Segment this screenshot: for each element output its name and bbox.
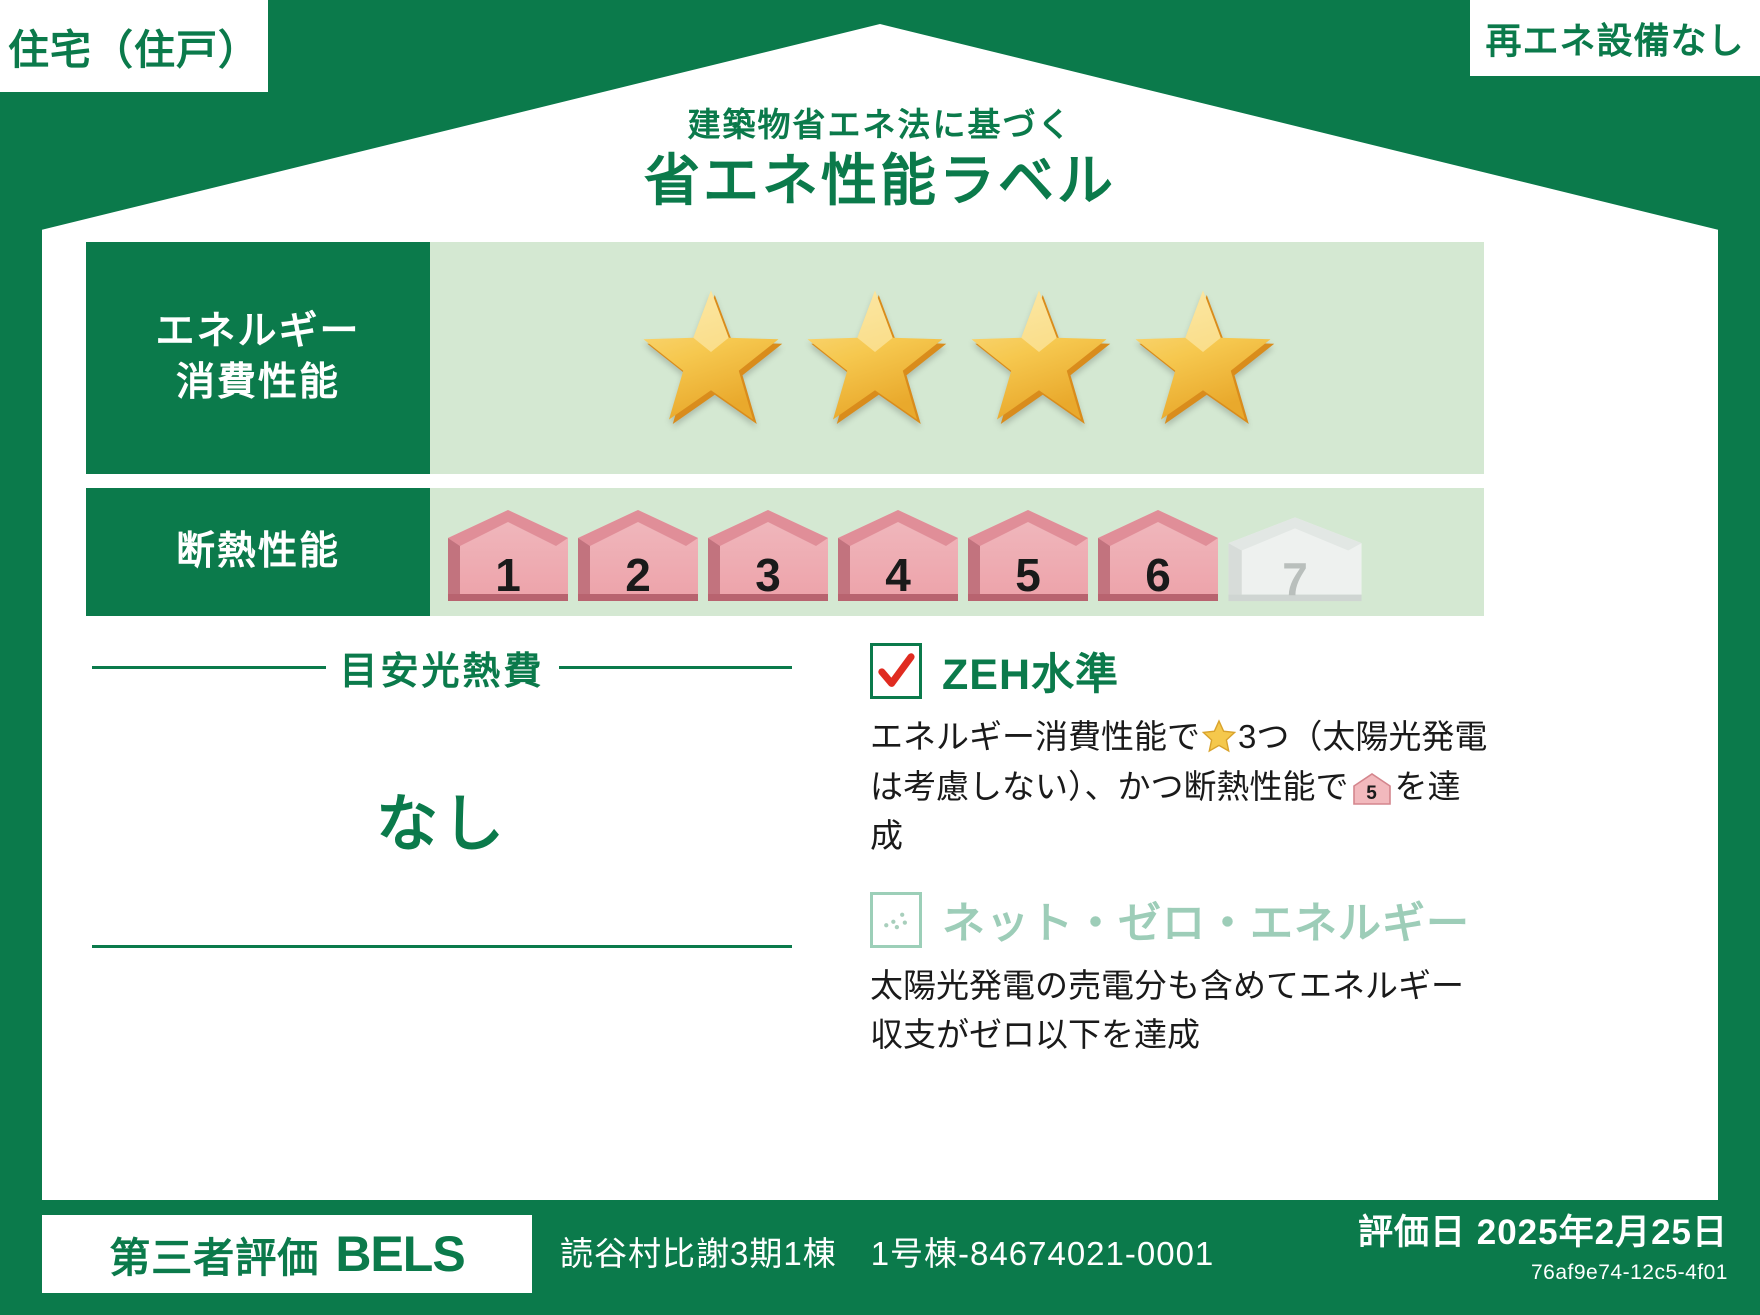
energy-label-line-1: エネルギー [155,307,360,358]
property-name: 読谷村比謝3期1棟 1号棟-84674021-0001 [560,1227,1214,1275]
utility-cost-bottom-rule [92,945,792,948]
net-zero-energy-row[interactable]: ネット・ゼロ・エネルギー [870,889,1490,951]
insulation-grade-chip: 5 [964,502,1092,602]
energy-performance-row: エネルギー 消費性能 [86,242,1484,474]
utility-cost-heading-text: 目安光熱費 [340,640,545,695]
badge-building-type: 住宅（住戸） [0,0,268,92]
net-zero-desc-line-1: 太陽光発電の売電分も含めてエネルギー [870,967,1464,1004]
zeh-standard-label: ZEH水準 [942,640,1119,702]
energy-performance-label: エネルギー 消費性能 [86,242,430,474]
badge-renewable-equipment: 再エネ設備なし [1470,0,1760,76]
net-zero-energy-checkbox[interactable] [870,892,922,948]
net-zero-energy-label: ネット・ゼロ・エネルギー [942,889,1470,951]
inline-insulation-chip-icon: 5 [1352,772,1392,806]
insulation-performance-row: 断熱性能 1234567 [86,488,1484,616]
bels-badge-en-text: BELS [335,1225,464,1283]
evaluation-date: 評価日 2025年2月25日 [1358,1204,1728,1255]
title-subtitle: 建築物省エネ法に基づく [0,104,1760,145]
star-rating [430,242,1484,474]
insulation-grade-chip: 6 [1094,502,1222,602]
insulation-grade-chip: 7 [1224,510,1366,602]
zeh-desc-part-1: エネルギー消費性能で [870,718,1200,755]
zeh-block: ZEH水準 エネルギー消費性能で 3つ（太陽光発電 は考慮しない）、かつ断熱性能… [870,640,1490,1060]
bels-badge: 第三者評価 BELS [42,1215,532,1293]
zeh-standard-description: エネルギー消費性能で 3つ（太陽光発電 は考慮しない）、かつ断熱性能で 5 を達… [870,712,1490,861]
bels-energy-label: 住宅（住戸） 再エネ設備なし 建築物省エネ法に基づく 省エネ性能ラベル エネルギ… [0,0,1760,1315]
inline-chip-value: 5 [1352,780,1392,809]
zeh-desc-star-count: 3つ（太陽光発電 [1238,718,1487,755]
zeh-standard-checkbox[interactable] [870,643,922,699]
inline-star-icon [1202,717,1236,751]
zeh-standard-row[interactable]: ZEH水準 [870,640,1490,702]
footer: 第三者評価 BELS 読谷村比謝3期1棟 1号棟-84674021-0001 評… [0,1199,1760,1315]
insulation-grade-chip: 4 [834,502,962,602]
insulation-label-text: 断熱性能 [176,527,340,578]
rule-right [559,666,793,669]
insulation-grade-scale: 1234567 [444,502,1366,602]
zeh-section-spacer [870,861,1490,889]
net-zero-energy-description: 太陽光発電の売電分も含めてエネルギー 収支がゼロ以下を達成 [870,961,1490,1060]
insulation-grade-chip: 3 [704,502,832,602]
utility-cost-block: 目安光熱費 なし [92,640,792,863]
page-title: 省エネ性能ラベル [0,149,1760,213]
star-icon [800,283,950,433]
insulation-grade-chip: 2 [574,502,702,602]
insulation-grade-chip: 1 [444,502,572,602]
evaluation-id: 76af9e74-12c5-4f01 [1358,1261,1728,1285]
evaluation-info: 評価日 2025年2月25日 76af9e74-12c5-4f01 [1358,1204,1728,1285]
star-icon [1128,283,1278,433]
zeh-desc-part-2: は考慮しない）、かつ断熱性能で [870,768,1349,805]
star-icon [636,283,786,433]
utility-cost-value: なし [92,773,792,863]
utility-cost-heading: 目安光熱費 [92,640,792,695]
rule-left [92,666,326,669]
star-icon [964,283,1114,433]
title-block: 建築物省エネ法に基づく 省エネ性能ラベル [0,104,1760,214]
insulation-performance-label: 断熱性能 [86,488,430,616]
energy-label-line-2: 消費性能 [176,358,340,409]
net-zero-desc-line-2: 収支がゼロ以下を達成 [870,1016,1200,1053]
bels-badge-jp-text: 第三者評価 [109,1224,319,1284]
